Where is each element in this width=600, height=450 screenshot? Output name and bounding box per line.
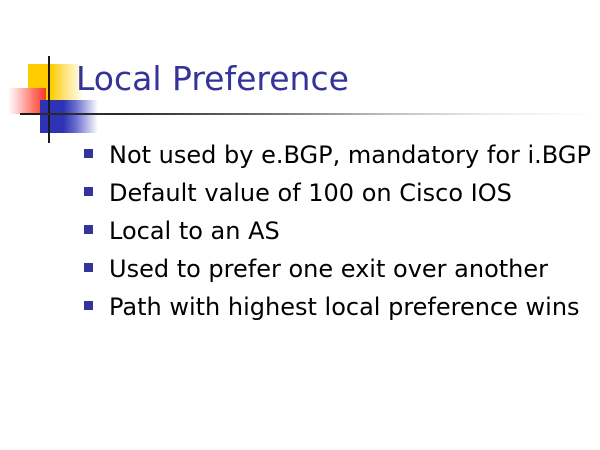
bullet-square-icon	[84, 225, 93, 234]
bullet-square-icon	[84, 263, 93, 272]
list-item: Not used by e.BGP, mandatory for i.BGP	[84, 136, 594, 174]
list-item-label: Used to prefer one exit over another	[109, 250, 548, 288]
list-item-label: Local to an AS	[109, 212, 280, 250]
slide-title: Local Preference	[76, 58, 349, 100]
list-item-label: Default value of 100 on Cisco IOS	[109, 174, 512, 212]
title-underline-rule	[40, 113, 596, 115]
list-item-label: Not used by e.BGP, mandatory for i.BGP	[109, 136, 591, 174]
list-item: Default value of 100 on Cisco IOS	[84, 174, 594, 212]
list-item: Used to prefer one exit over another	[84, 250, 594, 288]
logo-vertical-rule	[48, 56, 50, 143]
bullet-square-icon	[84, 149, 93, 158]
presentation-slide: Local Preference Not used by e.BGP, mand…	[0, 0, 600, 450]
slide-bullet-list: Not used by e.BGP, mandatory for i.BGP D…	[84, 136, 594, 326]
list-item: Path with highest local preference wins	[84, 288, 594, 326]
list-item-label: Path with highest local preference wins	[109, 288, 580, 326]
bullet-square-icon	[84, 301, 93, 310]
list-item: Local to an AS	[84, 212, 594, 250]
bullet-square-icon	[84, 187, 93, 196]
